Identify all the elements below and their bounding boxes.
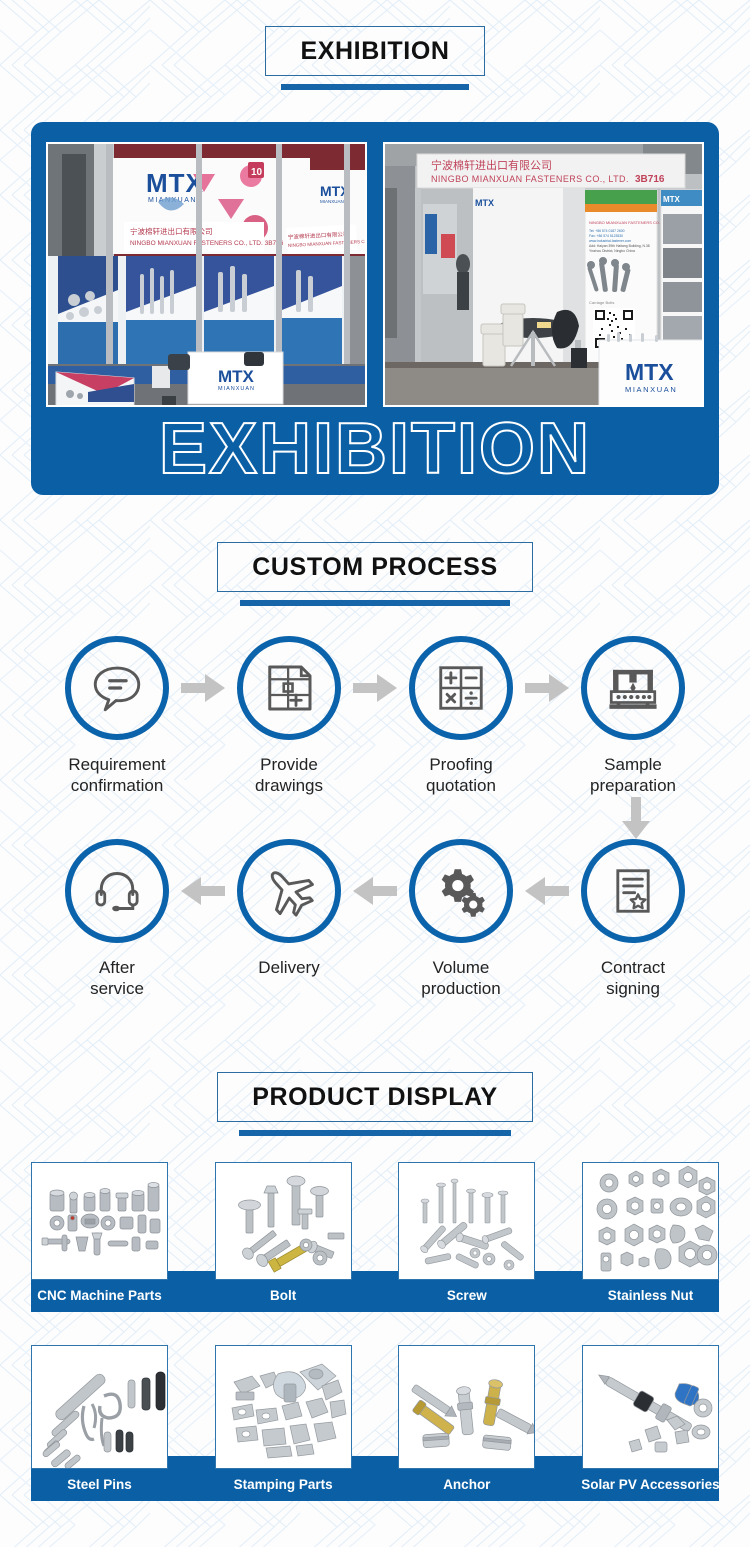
process-step-label: Delivery [203,957,375,978]
svg-text:NINGBO MIANXUAN FASTENERS CO.,: NINGBO MIANXUAN FASTENERS CO., LTD. [431,174,629,184]
svg-text:MTX: MTX [146,168,204,198]
exhibition-title-underline [281,84,469,90]
product-detail-page: EXHIBITION MTX MIANX [0,0,750,1547]
exhibition-panel: MTX MIANXUAN MTX MIANXUAN 10 宁波棉轩进出口有限公司 [31,122,719,495]
screw-image [399,1163,535,1280]
process-step-circle [581,839,685,943]
svg-text:Fax: +86 574 5123530: Fax: +86 574 5123530 [589,234,623,238]
svg-text:MTX: MTX [218,367,255,386]
process-step-volume-production[interactable]: Volume production [375,839,547,1000]
svg-text:Carriage Bolts: Carriage Bolts [589,300,614,305]
product-label: Solar PV Accessories [581,1469,719,1501]
product-rows-spacer [0,1312,750,1345]
product-display-grid: CNC Machine Parts [0,1162,750,1501]
svg-text:www.industrial-fastener.com: www.industrial-fastener.com [589,239,631,243]
blueprint-document-icon [261,660,317,716]
process-step-circle [65,636,169,740]
product-thumbnail [398,1162,535,1280]
process-step-label: Contract signing [547,957,719,1000]
product-card-solar-pv-accessories[interactable]: Solar PV Accessories [582,1345,719,1501]
product-display-title-underline [239,1130,511,1136]
stainless-nut-image [583,1163,719,1280]
bolt-image [216,1163,352,1280]
process-step-label-line1: Delivery [258,958,319,977]
custom-process-title-box: CUSTOM PROCESS [217,542,532,592]
svg-text:3B716: 3B716 [635,174,665,185]
product-card-bolt[interactable]: Bolt [215,1162,352,1312]
process-step-label: Proofing quotation [375,754,547,797]
process-step-label-line1: Volume [433,958,490,977]
headset-icon [89,863,145,919]
exhibition-photo-gallery: MTX MIANXUAN MTX MIANXUAN 10 宁波棉轩进出口有限公司 [46,142,704,407]
airplane-icon [260,862,318,920]
process-step-label-line2: preparation [590,776,676,795]
svg-text:Tel: +86 574 0187 2600: Tel: +86 574 0187 2600 [589,229,625,233]
anchor-image [399,1346,535,1469]
product-display-title: PRODUCT DISPLAY [252,1085,498,1110]
product-card-stainless-nut[interactable]: Stainless Nut [582,1162,719,1312]
svg-text:10: 10 [251,167,263,178]
process-step-label-line2: drawings [255,776,323,795]
custom-process-title: CUSTOM PROCESS [252,555,497,580]
process-step-label-line2: production [421,979,500,998]
product-card-cnc-machine-parts[interactable]: CNC Machine Parts [31,1162,168,1312]
process-connector [0,797,750,839]
product-label: Bolt [270,1280,296,1312]
process-step-label: Requirement confirmation [31,754,203,797]
product-thumbnail [398,1345,535,1469]
contract-document-icon [606,864,660,918]
process-step-label: Volume production [375,957,547,1000]
process-step-circle [409,839,513,943]
process-step-label-line1: Contract [601,958,665,977]
calculator-icon [434,661,488,715]
product-row-2-cards: Steel Pins [31,1345,719,1501]
process-step-circle [65,839,169,943]
steel-pins-image [32,1346,168,1469]
exhibition-wordmark-text: EXHIBITION [31,414,719,484]
exhibition-booth-photo-2[interactable]: 宁波棉轩进出口有限公司 NINGBO MIANXUAN FASTENERS CO… [383,142,704,407]
process-step-label-line1: Sample [604,755,662,774]
custom-process-flow: Requirement confirmation [0,636,750,999]
product-card-anchor[interactable]: Anchor [398,1345,535,1501]
product-label: Steel Pins [67,1469,132,1501]
svg-text:MIANXUAN: MIANXUAN [218,386,255,392]
svg-text:MTX: MTX [475,198,494,208]
process-step-requirement-confirmation[interactable]: Requirement confirmation [31,636,203,797]
product-thumbnail [31,1345,168,1469]
process-step-label: Sample preparation [547,754,719,797]
product-card-stamping-parts[interactable]: Stamping Parts [215,1345,352,1501]
product-label: Stainless Nut [608,1280,694,1312]
product-card-steel-pins[interactable]: Steel Pins [31,1345,168,1501]
product-label: Anchor [443,1469,490,1501]
product-display-section-header: PRODUCT DISPLAY [0,1072,750,1136]
svg-text:NINGBO MIANXUAN FASTENERS CO.,: NINGBO MIANXUAN FASTENERS CO., LTD [589,220,670,225]
process-step-provide-drawings[interactable]: Provide drawings [203,636,375,797]
process-step-sample-preparation[interactable]: Sample preparation [547,636,719,797]
product-card-screw[interactable]: Screw [398,1162,535,1312]
process-step-label-line2: service [90,979,144,998]
cnc-machine-icon [604,659,662,717]
svg-text:MIANXUAN: MIANXUAN [320,199,344,204]
product-thumbnail [31,1162,168,1280]
booth-photo-1-art: MTX MIANXUAN MTX MIANXUAN 10 宁波棉轩进出口有限公司 [48,144,367,407]
process-step-label-line1: Requirement [68,755,165,774]
process-step-label-line1: Provide [260,755,318,774]
process-row-1: Requirement confirmation [0,636,750,797]
process-step-label-line1: After [99,958,135,977]
product-row-1-cards: CNC Machine Parts [31,1162,719,1312]
product-label: CNC Machine Parts [37,1280,162,1312]
process-step-label-line2: quotation [426,776,496,795]
process-step-contract-signing[interactable]: Contract signing [547,839,719,1000]
stamping-parts-image [216,1346,352,1469]
svg-text:MTX: MTX [625,359,674,385]
process-step-after-service[interactable]: After service [31,839,203,1000]
exhibition-title: EXHIBITION [300,39,449,64]
svg-text:宁波棉轩进出口有限公司: 宁波棉轩进出口有限公司 [431,158,552,172]
process-row-2: After service Delivery [0,839,750,1000]
process-step-circle [581,636,685,740]
svg-text:MIANXUAN: MIANXUAN [625,385,677,394]
svg-text:Yinzhou District, Ningbo China: Yinzhou District, Ningbo China [589,249,635,253]
exhibition-wordmark: EXHIBITION [31,414,719,484]
custom-process-section-header: CUSTOM PROCESS [0,542,750,606]
speech-bubble-icon [88,659,146,717]
product-label: Screw [447,1280,487,1312]
cnc-machine-parts-image [32,1163,168,1280]
process-step-label-line2: confirmation [71,776,164,795]
process-step-label: Provide drawings [203,754,375,797]
svg-text:NINGBO MIANXUAN FASTENERS CO.,: NINGBO MIANXUAN FASTENERS CO., LTD. 3B71… [130,240,284,247]
custom-process-title-underline [240,600,510,606]
process-step-label: After service [31,957,203,1000]
booth-photo-2-art: 宁波棉轩进出口有限公司 NINGBO MIANXUAN FASTENERS CO… [385,144,704,407]
product-thumbnail [215,1162,352,1280]
process-step-circle [237,839,341,943]
arrow-down-icon [622,797,650,839]
process-step-circle [237,636,341,740]
product-display-title-box: PRODUCT DISPLAY [217,1072,533,1122]
exhibition-booth-photo-1[interactable]: MTX MIANXUAN MTX MIANXUAN 10 宁波棉轩进出口有限公司 [46,142,367,407]
svg-text:Add: Haiyan 39th Haitang Build: Add: Haiyan 39th Haitang Building, N.38 [589,244,650,248]
solar-pv-accessories-image [583,1346,719,1469]
product-label: Stamping Parts [234,1469,333,1501]
process-step-label-line2: signing [606,979,660,998]
gears-icon [432,862,490,920]
exhibition-title-box: EXHIBITION [265,26,484,76]
process-step-delivery[interactable]: Delivery [203,839,375,978]
product-thumbnail [582,1345,719,1469]
svg-text:MTX: MTX [663,195,681,204]
exhibition-section-header: EXHIBITION [0,26,750,90]
process-step-label-line1: Proofing [429,755,492,774]
product-thumbnail [582,1162,719,1280]
product-thumbnail [215,1345,352,1469]
product-row-2: Steel Pins [0,1345,750,1501]
product-row-1: CNC Machine Parts [0,1162,750,1312]
process-step-proofing-quotation[interactable]: Proofing quotation [375,636,547,797]
process-step-circle [409,636,513,740]
